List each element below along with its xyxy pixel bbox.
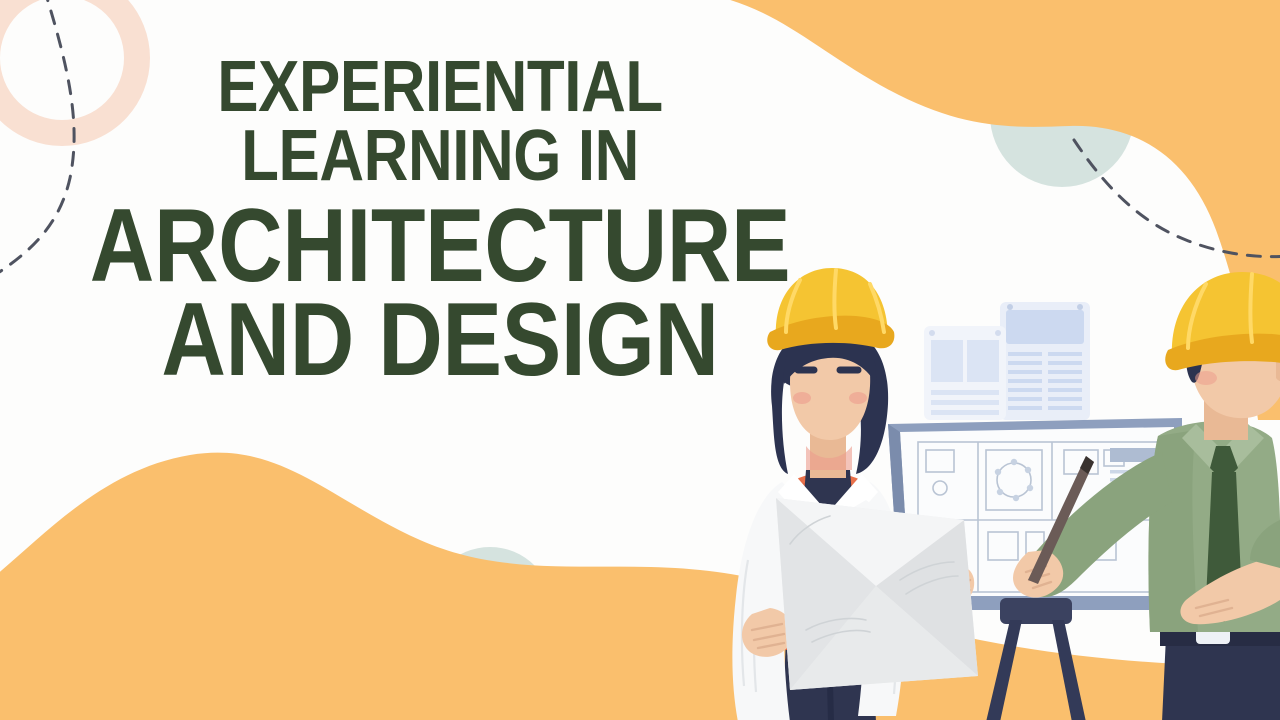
male-blush: [1195, 371, 1217, 385]
title-line-2: LEARNING IN: [62, 121, 819, 192]
title-line-4: AND DESIGN: [62, 291, 819, 390]
title-slide: EXPERIENTIAL LEARNING IN ARCHITECTURE AN…: [0, 0, 1280, 720]
female-blush-right: [849, 392, 867, 404]
wall-poster-left: [924, 326, 1006, 420]
male-hard-hat: [1165, 272, 1280, 370]
easel-leg-right: [1052, 620, 1086, 720]
blueprint-sheet: [776, 498, 978, 690]
wall-poster-right: [1000, 302, 1090, 420]
female-blush-left: [793, 392, 811, 404]
easel-leg-left: [986, 620, 1022, 720]
title-line-1: EXPERIENTIAL: [62, 52, 819, 123]
page-title: EXPERIENTIAL LEARNING IN ARCHITECTURE AN…: [0, 52, 880, 390]
title-line-3: ARCHITECTURE: [62, 197, 819, 296]
